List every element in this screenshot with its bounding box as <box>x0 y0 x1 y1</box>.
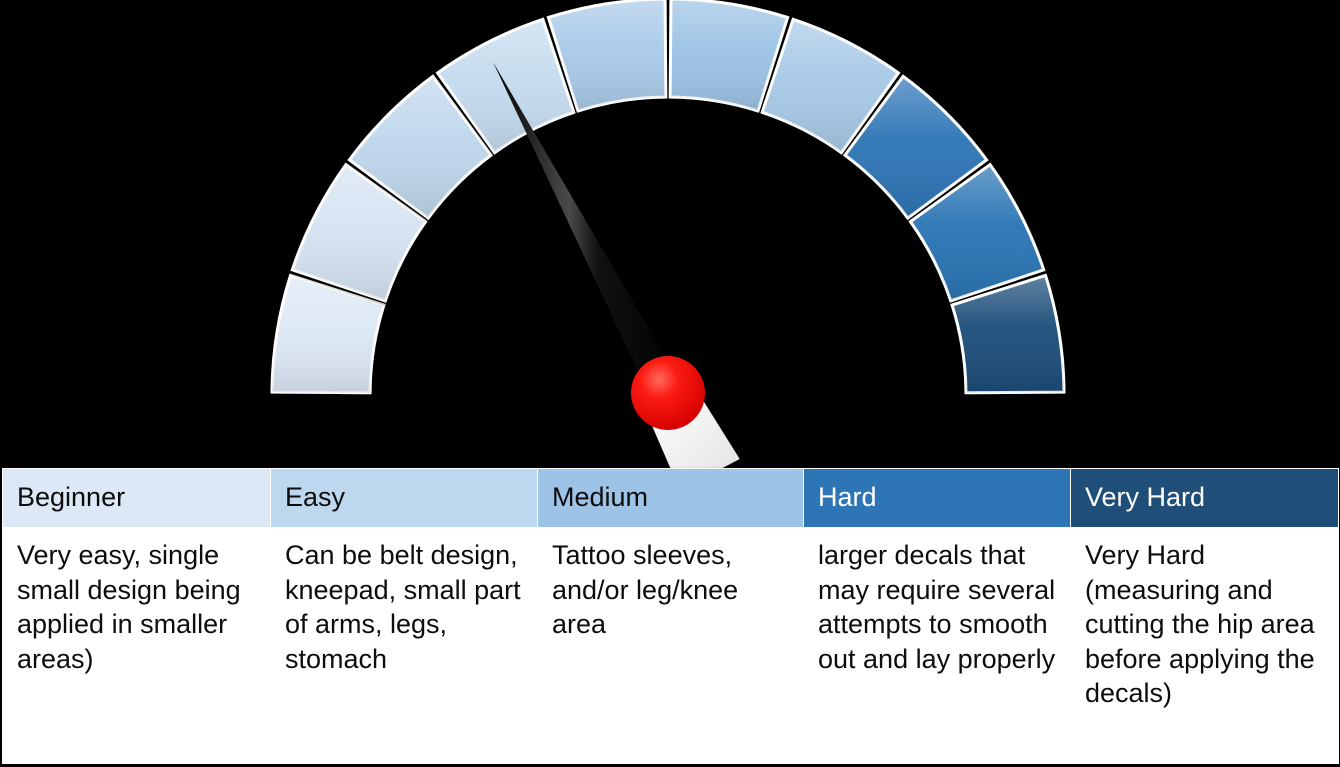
gauge-chart <box>0 0 1340 470</box>
table-row: Very easy, single small design being app… <box>3 528 1339 764</box>
table-cell-easy: Can be belt design, kneepad, small part … <box>271 528 538 764</box>
table-header-medium[interactable]: Medium <box>538 469 804 528</box>
table-cell-easy-text: Can be belt design, kneepad, small part … <box>285 538 525 676</box>
table-cell-very-hard-text: Very Hard (measuring and cutting the hip… <box>1085 538 1326 711</box>
table-header-easy[interactable]: Easy <box>271 469 538 528</box>
gauge-svg <box>0 0 1340 470</box>
table-cell-beginner-text: Very easy, single small design being app… <box>17 538 258 676</box>
table-header-beginner[interactable]: Beginner <box>3 469 271 528</box>
difficulty-table: Beginner Easy Medium Hard Very Hard Very… <box>2 468 1339 764</box>
slide-canvas: Beginner Easy Medium Hard Very Hard Very… <box>0 0 1340 767</box>
table-cell-hard-text: larger decals that may require several a… <box>818 538 1058 676</box>
table-cell-hard: larger decals that may require several a… <box>804 528 1071 764</box>
table-cell-medium-text: Tattoo sleeves, and/or leg/knee area <box>552 538 791 642</box>
table-header-row: Beginner Easy Medium Hard Very Hard <box>3 469 1339 528</box>
gauge-segment-group <box>272 0 1064 393</box>
gauge-needle[interactable] <box>493 62 683 403</box>
table-header-very-hard[interactable]: Very Hard <box>1071 469 1339 528</box>
table-cell-beginner: Very easy, single small design being app… <box>3 528 271 764</box>
needle-hub[interactable] <box>631 356 705 430</box>
table-cell-medium: Tattoo sleeves, and/or leg/knee area <box>538 528 804 764</box>
table-cell-very-hard: Very Hard (measuring and cutting the hip… <box>1071 528 1339 764</box>
table-header-hard[interactable]: Hard <box>804 469 1071 528</box>
